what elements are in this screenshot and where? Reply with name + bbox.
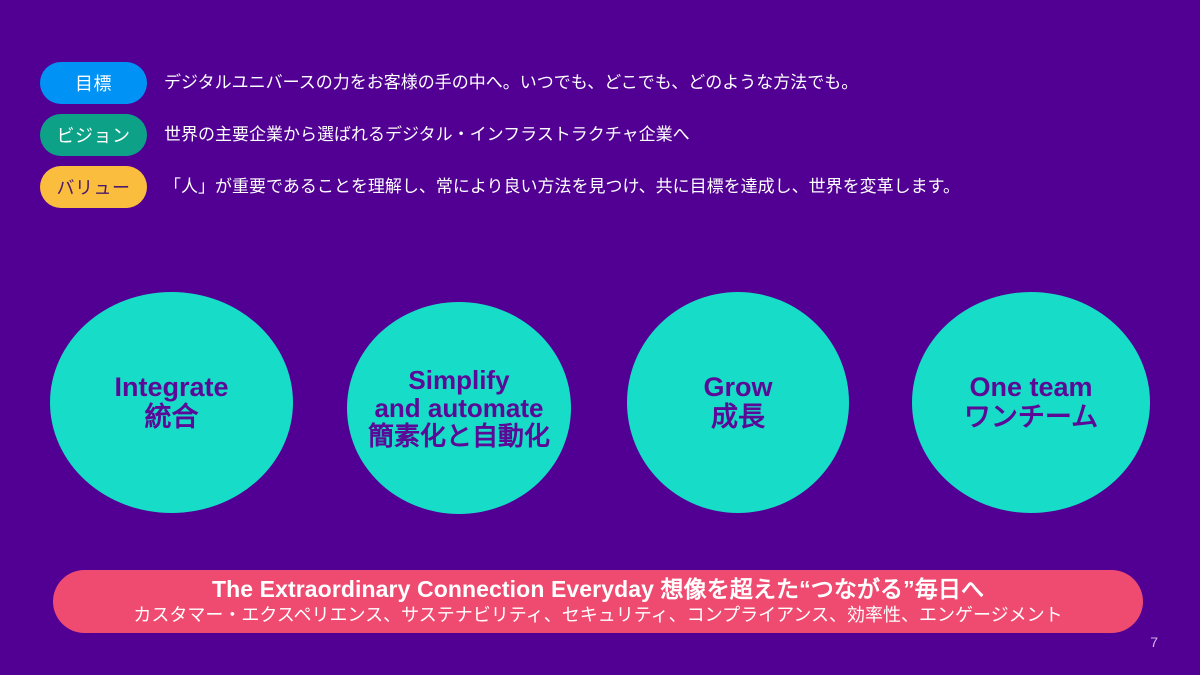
pillar-circle-one-team: One team ワンチーム [912, 292, 1150, 513]
tagline-primary: The Extraordinary Connection Everyday 想像… [212, 577, 984, 602]
values-statement: 「人」が重要であることを理解し、常により良い方法を見つけ、共に目標を達成し、世界… [164, 177, 960, 197]
pillar-label-one-team: One team ワンチーム [958, 373, 1104, 431]
pillar-en-simplify: Simplify [368, 366, 550, 394]
pillar-en-and-automate: and automate [368, 394, 550, 422]
presentation-slide: 目標 デジタルユニバースの力をお客様の手の中へ。いつでも、どこでも、どのような方… [0, 0, 1200, 675]
vision-statement: 世界の主要企業から選ばれるデジタル・インフラストラクチャ企業へ [164, 125, 690, 145]
pillar-circle-simplify-and-automate: Simplify and automate 簡素化と自動化 [347, 302, 571, 514]
pillar-en-one-team: One team [964, 373, 1098, 402]
pillar-en-integrate: Integrate [114, 373, 228, 402]
pill-vision-label: ビジョン [57, 122, 131, 148]
pill-vision: ビジョン [40, 114, 147, 156]
header-row-vision: ビジョン 世界の主要企業から選ばれるデジタル・インフラストラクチャ企業へ [40, 114, 1160, 156]
tagline-banner: The Extraordinary Connection Everyday 想像… [53, 570, 1143, 633]
page-number: 7 [1150, 634, 1158, 650]
pillar-ja-integrate: 統合 [114, 403, 228, 432]
pillar-label-simplify-and-automate: Simplify and automate 簡素化と自動化 [362, 366, 556, 450]
tagline-secondary: カスタマー・エクスペリエンス、サステナビリティ、セキュリティ、コンプライアンス、… [133, 605, 1062, 626]
pillar-circle-integrate: Integrate 統合 [50, 292, 293, 513]
pill-goal: 目標 [40, 62, 147, 104]
pillar-ja-grow: 成長 [703, 403, 772, 432]
pillar-circle-grow: Grow 成長 [627, 292, 849, 513]
header-row-values: バリュー 「人」が重要であることを理解し、常により良い方法を見つけ、共に目標を達… [40, 166, 1160, 208]
header-row-goal: 目標 デジタルユニバースの力をお客様の手の中へ。いつでも、どこでも、どのような方… [40, 62, 1160, 104]
pillar-label-grow: Grow 成長 [697, 373, 778, 431]
pillar-label-integrate: Integrate 統合 [108, 373, 234, 431]
pill-goal-label: 目標 [75, 70, 112, 96]
mission-vision-values-block: 目標 デジタルユニバースの力をお客様の手の中へ。いつでも、どこでも、どのような方… [40, 62, 1160, 218]
pill-values: バリュー [40, 166, 147, 208]
pillar-ja-one-team: ワンチーム [964, 403, 1098, 432]
pillar-ja-simplify-and-automate: 簡素化と自動化 [368, 422, 550, 450]
pillar-en-grow: Grow [703, 373, 772, 402]
pill-values-label: バリュー [57, 174, 131, 200]
goal-statement: デジタルユニバースの力をお客様の手の中へ。いつでも、どこでも、どのような方法でも… [164, 73, 858, 93]
